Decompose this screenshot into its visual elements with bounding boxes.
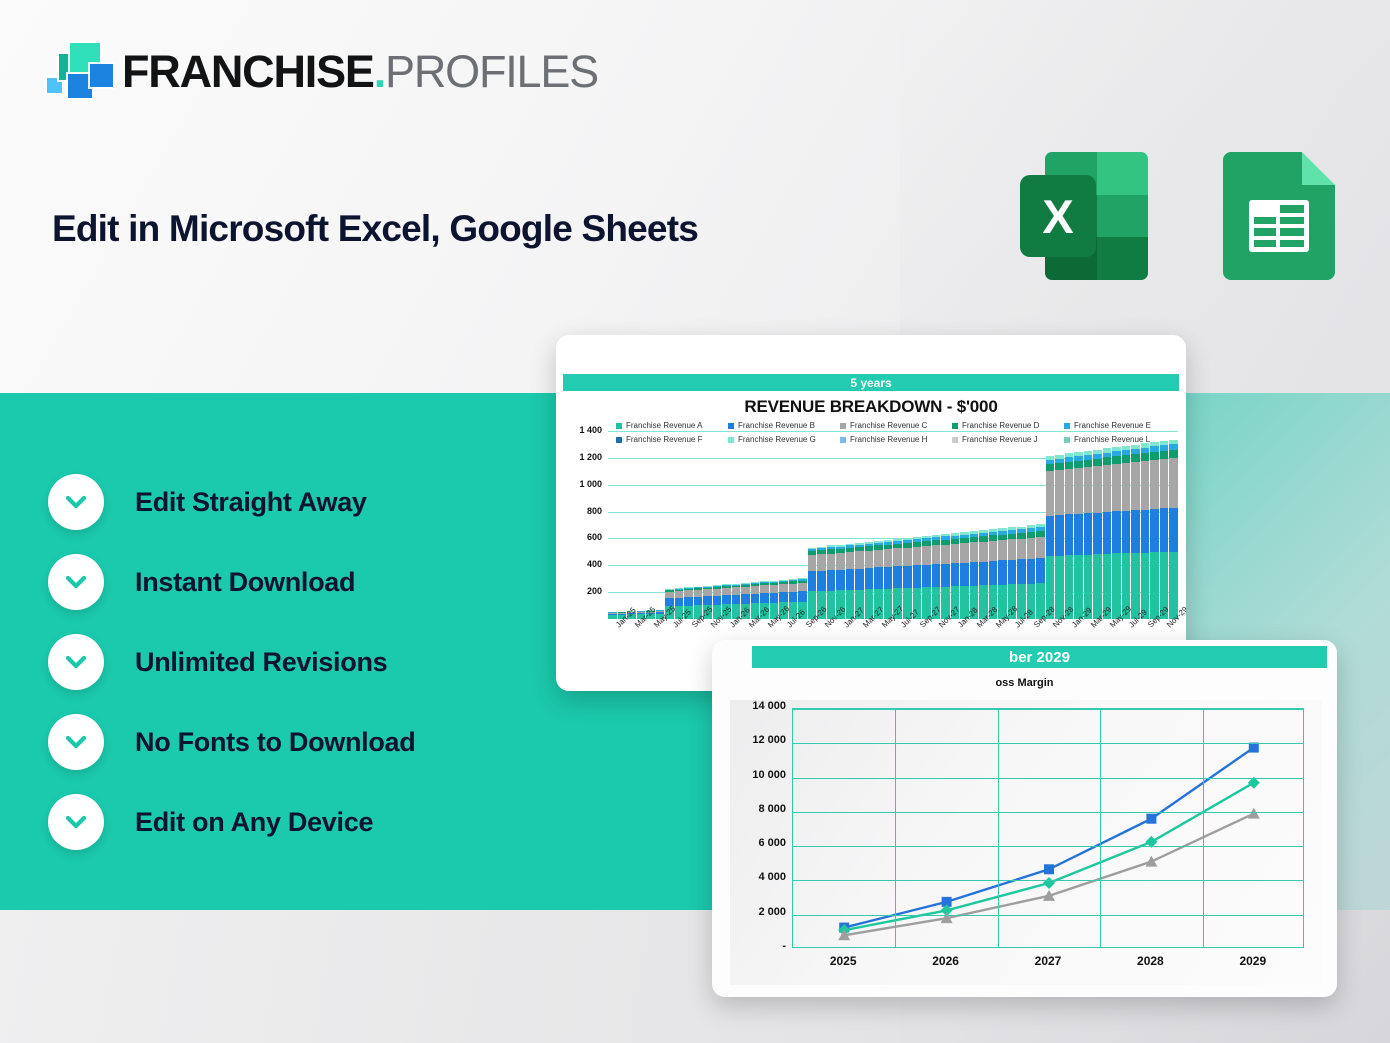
bar-column — [808, 548, 817, 619]
legend-entry: Franchise Revenue C — [840, 421, 952, 430]
gross-margin-plot-wrap: -2 0004 0006 0008 00010 00012 00014 000 … — [730, 700, 1322, 985]
chevron-down-icon — [48, 474, 104, 530]
logo-square-1 — [47, 78, 62, 93]
gross-margin-subtitle: oss Margin — [712, 677, 1337, 689]
chevron-down-icon — [48, 634, 104, 690]
bar-column — [1131, 445, 1140, 619]
gross-margin-x-axis: 20252026202720282029 — [792, 954, 1304, 976]
sheets-fold-corner — [1302, 152, 1335, 185]
gross-margin-header: ber 2029 — [752, 646, 1327, 668]
brand-name-dot: . — [374, 46, 385, 97]
microsoft-excel-icon[interactable]: X — [1020, 152, 1148, 280]
y-tick-label: 2 000 — [758, 906, 786, 918]
bar-column — [979, 530, 988, 619]
feature-item[interactable]: Edit Straight Away — [48, 462, 608, 542]
bar-column — [1093, 450, 1102, 619]
bar-column — [827, 545, 836, 619]
y-tick-label: - — [782, 940, 786, 952]
y-tick-label: 1 200 — [579, 452, 602, 462]
revenue-bar-series — [608, 431, 1178, 619]
feature-item[interactable]: Unlimited Revisions — [48, 622, 608, 702]
bar-column — [1065, 453, 1074, 619]
bar-column — [884, 540, 893, 619]
bar-column — [1055, 455, 1064, 619]
bar-column — [608, 612, 617, 619]
revenue-band-label: 5 years — [563, 374, 1179, 391]
y-tick-label: 10 000 — [752, 769, 786, 781]
feature-list: Edit Straight Away Instant Download Unli… — [48, 462, 608, 862]
x-tick-label: 2028 — [1137, 954, 1164, 968]
gross-margin-card[interactable]: ber 2029 oss Margin -2 0004 0006 0008 00… — [712, 640, 1337, 997]
bar-column — [1084, 451, 1093, 619]
legend-entry: Franchise Revenue D — [952, 421, 1064, 430]
brand-name-light: PROFILES — [385, 46, 598, 97]
page-headline: Edit in Microsoft Excel, Google Sheets — [52, 208, 872, 250]
legend-entry: Franchise Revenue E — [1064, 421, 1176, 430]
x-tick-label: 2025 — [830, 954, 857, 968]
excel-x-glyph: X — [1020, 175, 1096, 257]
y-tick-label: 800 — [587, 506, 602, 516]
brand-wordmark: FRANCHISE.PROFILES — [122, 49, 598, 94]
y-tick-label: 400 — [587, 559, 602, 569]
feature-item[interactable]: Edit on Any Device — [48, 782, 608, 862]
revenue-plot-area — [608, 431, 1178, 619]
brand-logo[interactable]: FRANCHISE.PROFILES — [46, 43, 598, 99]
feature-label: No Fonts to Download — [135, 727, 415, 758]
bar-column — [1017, 527, 1026, 619]
y-tick-label: 14 000 — [752, 700, 786, 712]
bar-column — [1046, 456, 1055, 619]
chevron-down-icon — [48, 714, 104, 770]
bar-column — [1074, 452, 1083, 619]
y-tick-label: 8 000 — [758, 803, 786, 815]
bar-column — [1169, 440, 1178, 620]
bar-column — [998, 528, 1007, 619]
y-tick-label: 6 000 — [758, 837, 786, 849]
x-tick-label: 2029 — [1239, 954, 1266, 968]
chevron-down-icon — [48, 794, 104, 850]
gross-margin-line-series — [793, 709, 1305, 949]
app-icon-row: X — [1020, 152, 1335, 280]
y-tick-label: 12 000 — [752, 734, 786, 746]
google-sheets-icon[interactable] — [1223, 152, 1335, 280]
feature-label: Edit on Any Device — [135, 807, 373, 838]
bar-column — [903, 538, 912, 619]
feature-label: Instant Download — [135, 567, 355, 598]
revenue-breakdown-card[interactable]: 5 years REVENUE BREAKDOWN - $'000 Franch… — [556, 335, 1186, 691]
chevron-down-icon — [48, 554, 104, 610]
y-tick-label: 1 000 — [579, 479, 602, 489]
y-tick-label: 200 — [587, 586, 602, 596]
feature-label: Unlimited Revisions — [135, 647, 387, 678]
brand-name-bold: FRANCHISE — [122, 46, 374, 97]
revenue-chart-title: REVENUE BREAKDOWN - $'000 — [556, 397, 1186, 417]
sheets-table-glyph — [1249, 200, 1309, 252]
gross-margin-y-axis: -2 0004 0006 0008 00010 00012 00014 000 — [730, 708, 788, 948]
bar-column — [865, 542, 874, 619]
logo-square-5 — [90, 64, 113, 87]
gross-margin-plot-area — [792, 708, 1304, 948]
y-tick-label: 600 — [587, 532, 602, 542]
bar-column — [960, 532, 969, 619]
x-tick-label: 2027 — [1035, 954, 1062, 968]
bar-column — [1112, 447, 1121, 619]
logo-square-4 — [68, 74, 92, 98]
bar-column — [1036, 524, 1045, 619]
bar-column — [922, 536, 931, 619]
bar-column — [1141, 443, 1150, 619]
bar-column — [1150, 442, 1159, 619]
legend-entry: Franchise Revenue B — [728, 421, 840, 430]
feature-item[interactable]: Instant Download — [48, 542, 608, 622]
bar-column — [1103, 448, 1112, 619]
x-tick-label: 2026 — [932, 954, 959, 968]
revenue-y-axis: 2004006008001 0001 2001 400 — [562, 431, 602, 619]
bar-column — [1027, 525, 1036, 619]
y-tick-label: 4 000 — [758, 871, 786, 883]
y-tick-label: 1 400 — [579, 425, 602, 435]
bar-column — [1122, 446, 1131, 619]
legend-entry: Franchise Revenue A — [616, 421, 728, 430]
bar-column — [846, 544, 855, 619]
bar-column — [1160, 441, 1169, 619]
feature-item[interactable]: No Fonts to Download — [48, 702, 608, 782]
feature-label: Edit Straight Away — [135, 487, 367, 518]
bar-column — [941, 534, 950, 619]
logo-mark-icon — [46, 43, 108, 99]
